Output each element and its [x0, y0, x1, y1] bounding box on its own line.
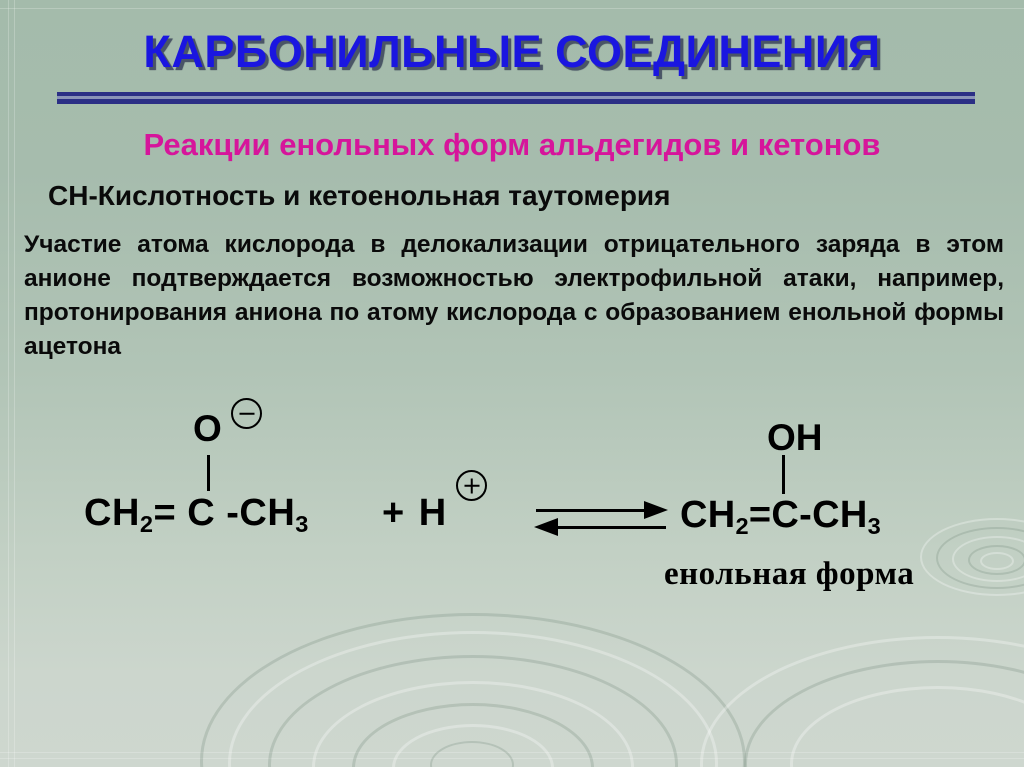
equilibrium-arrow-icon — [536, 500, 666, 536]
arrow-head-forward — [644, 501, 668, 519]
product-caption: енольная форма — [664, 556, 914, 593]
reactant-formula: CH2= C -CH3 — [84, 492, 309, 538]
product-ch2-subscript: 2 — [736, 513, 749, 539]
arrow-shaft-reverse — [554, 526, 666, 529]
circled-plus-icon — [456, 470, 487, 501]
arrow-shaft-forward — [536, 509, 648, 512]
reactant-bond-line — [207, 455, 210, 491]
reaction-scheme: O CH2= C -CH3 + H OH CH2=C-CH3 енольная … — [0, 0, 1024, 767]
arrow-head-reverse — [534, 518, 558, 536]
product-hydroxyl-group: OH — [767, 417, 823, 459]
reagent-proton-label: + H — [382, 492, 448, 535]
reactant-middle-label: = C -CH — [154, 492, 296, 534]
product-ch3-subscript: 3 — [868, 513, 881, 539]
reactant-oxygen-atom: O — [193, 408, 222, 450]
product-ch2-label: CH — [680, 494, 736, 536]
product-formula: CH2=C-CH3 — [680, 494, 881, 540]
product-middle-label: =C-CH — [749, 494, 868, 536]
product-bond-line — [782, 455, 785, 494]
circled-minus-icon — [231, 398, 262, 429]
slide-canvas: КАРБОНИЛЬНЫЕ СОЕДИНЕНИЯ Реакции енольных… — [0, 0, 1024, 767]
reactant-ch2-subscript: 2 — [140, 511, 154, 537]
reactant-ch2-label: CH — [84, 492, 140, 534]
reactant-ch3-subscript: 3 — [295, 511, 309, 537]
